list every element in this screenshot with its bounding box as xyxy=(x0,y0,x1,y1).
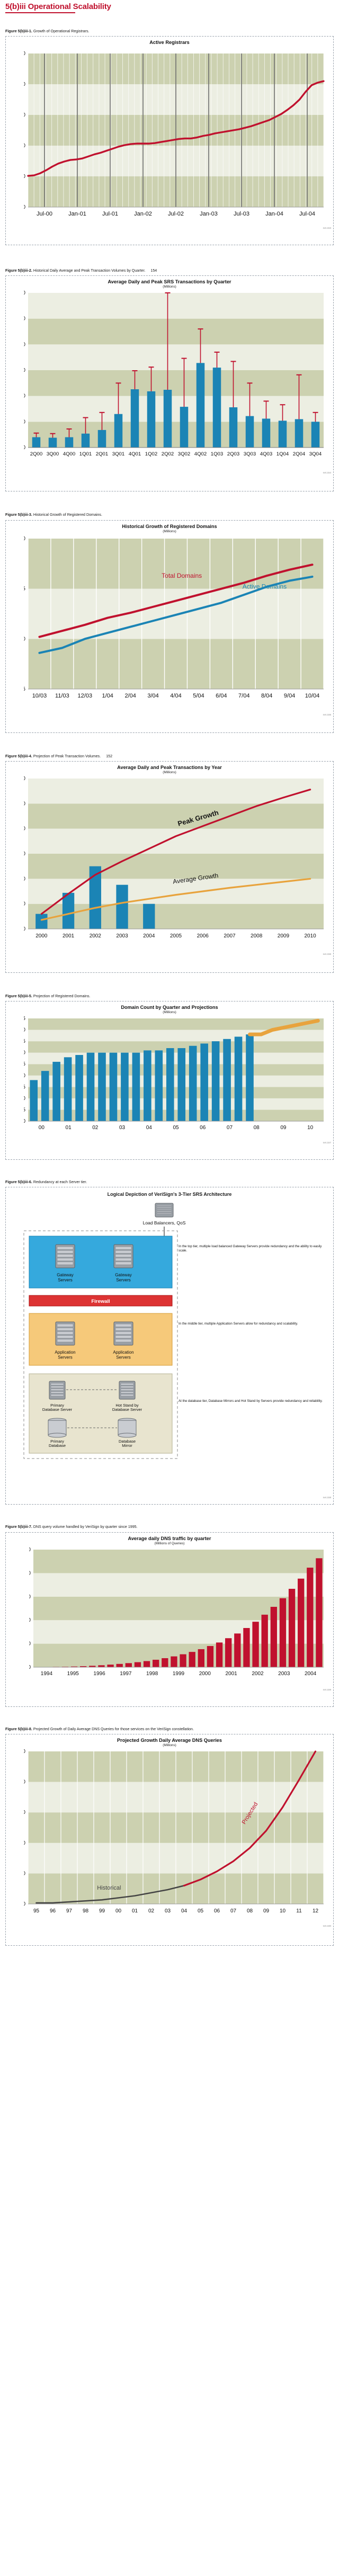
svg-text:04: 04 xyxy=(146,1125,153,1131)
svg-text:1Q01: 1Q01 xyxy=(79,451,92,457)
svg-text:40: 40 xyxy=(24,536,25,542)
svg-text:1Q04: 1Q04 xyxy=(276,451,289,457)
svg-text:2001: 2001 xyxy=(63,933,75,939)
figure-label-7: Figure 5(b)iii-7. xyxy=(5,1525,32,1529)
figure-footer-1: net.153 xyxy=(6,226,333,230)
chart-plot-7: 03,0006,0009,00012,00015,000199419951996… xyxy=(29,1548,326,1688)
figure-caption-text-1: Growth of Operational Registrars. xyxy=(33,29,90,33)
figure-caption-text-2: Historical Daily Average and Peak Transa… xyxy=(33,269,146,273)
figure-caption-5: Figure 5(b)iii-5. Projection of Register… xyxy=(5,994,335,999)
svg-text:1995: 1995 xyxy=(67,1671,79,1677)
svg-text:09: 09 xyxy=(263,1908,270,1914)
figure-caption-8: Figure 5(b)iii-8. Projected Growth of Da… xyxy=(5,1727,335,1732)
bar-chart-srs-transactions: 0501001502002503002Q003Q004Q001Q012Q013Q… xyxy=(24,291,329,471)
page-title: 5(b)iii Operational Scalability xyxy=(5,2,335,11)
document-page: 5(b)iii Operational Scalability Figure 5… xyxy=(0,2,339,1946)
svg-text:30: 30 xyxy=(24,1050,25,1056)
figure-label-2: Figure 5(b)iii-2. xyxy=(5,269,32,273)
svg-text:3Q04: 3Q04 xyxy=(309,451,322,457)
svg-text:2Q00: 2Q00 xyxy=(30,451,42,457)
svg-text:Jul-00: Jul-00 xyxy=(37,211,52,217)
svg-text:95: 95 xyxy=(33,1908,40,1914)
svg-text:300: 300 xyxy=(24,291,25,296)
svg-text:10: 10 xyxy=(280,1908,286,1914)
svg-text:Application: Application xyxy=(55,1350,75,1355)
svg-text:2004: 2004 xyxy=(143,933,155,939)
svg-text:2001: 2001 xyxy=(226,1671,238,1677)
svg-text:4/04: 4/04 xyxy=(170,693,181,699)
chart-plot-3: 25303540Total DomainsActive Domains10/03… xyxy=(24,535,326,713)
svg-text:100: 100 xyxy=(24,393,25,399)
svg-text:Application: Application xyxy=(113,1350,133,1355)
figure-caption-text-8: Projected Growth of Daily Average DNS Qu… xyxy=(33,1727,194,1731)
svg-text:10: 10 xyxy=(24,1096,25,1102)
chart-title-1: Active Registrars xyxy=(6,40,333,45)
svg-text:12/03: 12/03 xyxy=(78,693,93,699)
figure-caption-2: Figure 5(b)iii-2. Historical Daily Avera… xyxy=(5,269,335,273)
figure-caption-text-3: Historical Growth of Registered Domains. xyxy=(33,513,102,517)
svg-text:7/04: 7/04 xyxy=(238,693,249,699)
svg-text:02: 02 xyxy=(148,1908,155,1914)
svg-text:09: 09 xyxy=(280,1125,287,1131)
svg-text:200: 200 xyxy=(24,826,25,832)
svg-text:2010: 2010 xyxy=(305,933,317,939)
svg-text:9/04: 9/04 xyxy=(284,693,295,699)
svg-text:1/04: 1/04 xyxy=(102,693,113,699)
svg-text:05: 05 xyxy=(173,1125,179,1131)
figure-caption-3: Figure 5(b)iii-3. Historical Growth of R… xyxy=(5,513,335,517)
svg-text:2/04: 2/04 xyxy=(124,693,136,699)
svg-text:150: 150 xyxy=(24,368,25,373)
svg-text:08: 08 xyxy=(254,1125,260,1131)
svg-text:3Q02: 3Q02 xyxy=(178,451,190,457)
svg-text:120: 120 xyxy=(24,1779,25,1785)
svg-text:12: 12 xyxy=(313,1908,319,1914)
svg-text:6,000: 6,000 xyxy=(29,1617,31,1623)
svg-text:01: 01 xyxy=(132,1908,138,1914)
chart-title-7: Average daily DNS traffic by quarter xyxy=(6,1536,333,1541)
svg-text:2005: 2005 xyxy=(170,933,182,939)
svg-text:15: 15 xyxy=(24,1084,25,1090)
svg-text:Database Server: Database Server xyxy=(42,1407,73,1412)
svg-text:08: 08 xyxy=(247,1908,253,1914)
svg-text:30: 30 xyxy=(24,1871,25,1876)
line-chart-dns-projection: 0306090120150ProjectedHistorical95969798… xyxy=(24,1749,329,1924)
svg-text:10: 10 xyxy=(307,1125,314,1131)
line-chart-active-registrars: 060120180240300Jul-00Jan-01Jul-01Jan-02J… xyxy=(24,51,329,226)
svg-text:2002: 2002 xyxy=(90,933,102,939)
architecture-diagram: Load Balancers, QoSGatewayServersGateway… xyxy=(8,1199,333,1496)
svg-text:1999: 1999 xyxy=(173,1671,185,1677)
chart-title-8: Projected Growth Daily Average DNS Queri… xyxy=(6,1738,333,1743)
figure-box-6: Logical Depiction of VeriSign's 3-Tier S… xyxy=(5,1187,334,1505)
svg-text:2Q01: 2Q01 xyxy=(96,451,108,457)
svg-text:35: 35 xyxy=(24,586,25,592)
svg-text:Historical: Historical xyxy=(97,1885,121,1891)
svg-text:250: 250 xyxy=(24,801,25,807)
svg-text:0: 0 xyxy=(24,1119,25,1124)
bar-chart-domain-projection: 0510152025303540450001020304050607080910 xyxy=(24,1016,329,1141)
svg-text:98: 98 xyxy=(83,1908,89,1914)
figure-footer-3: net.155 xyxy=(6,713,333,717)
svg-text:35: 35 xyxy=(24,1039,25,1044)
svg-text:Jan-04: Jan-04 xyxy=(265,211,283,217)
svg-text:03: 03 xyxy=(165,1908,171,1914)
figure-box-7: Average daily DNS traffic by quarter (Mi… xyxy=(5,1532,334,1707)
figure-box-4: Average Daily and Peak Transactions by Y… xyxy=(5,761,334,973)
figure-caption-4: Figure 5(b)iii-4. Projection of Peak Tra… xyxy=(5,754,335,759)
svg-text:300: 300 xyxy=(24,51,25,57)
svg-text:60: 60 xyxy=(24,174,25,180)
svg-text:Jan-02: Jan-02 xyxy=(134,211,152,217)
svg-text:Servers: Servers xyxy=(58,1355,73,1360)
figure-caption-text-5: Projection of Registered Domains. xyxy=(33,994,91,998)
line-chart-peak-projection: 050100150200250300Peak GrowthAverage Gro… xyxy=(24,776,329,952)
figure-footer-4: net.156 xyxy=(6,952,333,956)
chart-title-3: Historical Growth of Registered Domains xyxy=(6,524,333,529)
figure-caption-1: Figure 5(b)iii-1. Growth of Operational … xyxy=(5,29,335,34)
svg-text:25: 25 xyxy=(24,686,25,692)
line-chart-registered-domains: 25303540Total DomainsActive Domains10/03… xyxy=(24,535,329,713)
chart-plot-4: 050100150200250300Peak GrowthAverage Gro… xyxy=(24,776,326,952)
figure-caption-text-7: DNS query volume handled by VeriSign by … xyxy=(33,1525,138,1529)
svg-text:2Q03: 2Q03 xyxy=(227,451,239,457)
svg-text:0: 0 xyxy=(24,204,25,210)
figure-page-4: 152 xyxy=(106,754,112,758)
svg-text:Database: Database xyxy=(49,1443,66,1448)
svg-text:5/04: 5/04 xyxy=(193,693,204,699)
chart-subtitle-8: (Millions) xyxy=(6,1743,333,1747)
bar-chart-dns-traffic: 03,0006,0009,00012,00015,000199419951996… xyxy=(29,1548,329,1688)
svg-text:97: 97 xyxy=(66,1908,73,1914)
svg-text:04: 04 xyxy=(181,1908,188,1914)
svg-text:2009: 2009 xyxy=(278,933,290,939)
svg-text:4Q03: 4Q03 xyxy=(260,451,272,457)
figure-box-8: Projected Growth Daily Average DNS Queri… xyxy=(5,1734,334,1946)
svg-text:Servers: Servers xyxy=(116,1355,131,1360)
svg-text:Jul-01: Jul-01 xyxy=(102,211,118,217)
figure-caption-text-4: Projection of Peak Transaction Volumes. xyxy=(33,754,101,758)
svg-text:02: 02 xyxy=(92,1125,99,1131)
svg-text:Jan-01: Jan-01 xyxy=(68,211,86,217)
svg-text:6/04: 6/04 xyxy=(216,693,227,699)
svg-text:03: 03 xyxy=(119,1125,126,1131)
svg-text:0: 0 xyxy=(24,1901,25,1907)
svg-text:40: 40 xyxy=(24,1027,25,1033)
chart-title-2: Average Daily and Peak SRS Transactions … xyxy=(6,279,333,284)
svg-text:11/03: 11/03 xyxy=(55,693,69,699)
chart-plot-5: 0510152025303540450001020304050607080910 xyxy=(24,1016,326,1141)
svg-text:2007: 2007 xyxy=(224,933,236,939)
svg-text:15,000: 15,000 xyxy=(29,1548,31,1553)
svg-text:3Q01: 3Q01 xyxy=(112,451,124,457)
svg-text:50: 50 xyxy=(24,901,25,907)
svg-text:200: 200 xyxy=(24,342,25,348)
svg-text:20: 20 xyxy=(24,1073,25,1079)
svg-text:250: 250 xyxy=(24,316,25,322)
svg-text:2000: 2000 xyxy=(199,1671,211,1677)
svg-text:50: 50 xyxy=(24,419,25,425)
svg-text:Total Domains: Total Domains xyxy=(162,571,202,579)
figure-box-1: Active Registrars 060120180240300Jul-00J… xyxy=(5,36,334,245)
svg-text:180: 180 xyxy=(24,112,25,118)
svg-text:2Q02: 2Q02 xyxy=(162,451,174,457)
svg-text:Jan-03: Jan-03 xyxy=(200,211,218,217)
svg-text:00: 00 xyxy=(39,1125,45,1131)
svg-text:2Q04: 2Q04 xyxy=(293,451,306,457)
svg-text:1Q03: 1Q03 xyxy=(211,451,223,457)
svg-text:Jul-02: Jul-02 xyxy=(168,211,184,217)
chart-subtitle-7: (Millions of Queries) xyxy=(6,1542,333,1545)
figure-label-3: Figure 5(b)iii-3. xyxy=(5,513,32,517)
svg-text:99: 99 xyxy=(99,1908,105,1914)
figure-box-3: Historical Growth of Registered Domains … xyxy=(5,520,334,733)
figure-footer-8: net.160 xyxy=(6,1924,333,1928)
svg-text:07: 07 xyxy=(230,1908,237,1914)
figure-footer-2: net.154 xyxy=(6,471,333,475)
svg-text:0: 0 xyxy=(29,1665,31,1670)
svg-text:1Q02: 1Q02 xyxy=(145,451,157,457)
figure-box-5: Domain Count by Quarter and Projections … xyxy=(5,1001,334,1160)
svg-text:01: 01 xyxy=(66,1125,72,1131)
chart-title-5: Domain Count by Quarter and Projections xyxy=(6,1005,333,1010)
svg-text:3Q03: 3Q03 xyxy=(244,451,256,457)
svg-text:Firewall: Firewall xyxy=(91,1299,110,1304)
svg-text:10/03: 10/03 xyxy=(32,693,47,699)
svg-text:240: 240 xyxy=(24,82,25,87)
svg-text:120: 120 xyxy=(24,143,25,149)
svg-text:Mirror: Mirror xyxy=(122,1443,132,1448)
chart-plot-2: 0501001502002503002Q003Q004Q001Q012Q013Q… xyxy=(24,291,326,471)
svg-text:3/04: 3/04 xyxy=(147,693,158,699)
svg-text:2008: 2008 xyxy=(251,933,263,939)
chart-plot-8: 0306090120150ProjectedHistorical95969798… xyxy=(24,1749,326,1924)
svg-text:Active Domains: Active Domains xyxy=(243,583,287,590)
svg-text:11: 11 xyxy=(296,1908,302,1914)
figure-footer-6: net.158 xyxy=(6,1496,333,1500)
chart-subtitle-4: (Millions) xyxy=(6,771,333,774)
svg-text:2006: 2006 xyxy=(197,933,209,939)
figure-caption-6: Figure 5(b)iii-6. Redundancy at each Ser… xyxy=(5,1180,335,1185)
svg-text:Gateway: Gateway xyxy=(115,1273,132,1277)
svg-text:0: 0 xyxy=(24,926,25,932)
svg-text:45: 45 xyxy=(24,1016,25,1022)
figure-label-1: Figure 5(b)iii-1. xyxy=(5,29,32,33)
svg-text:5: 5 xyxy=(24,1107,25,1113)
svg-text:06: 06 xyxy=(214,1908,220,1914)
svg-text:Jul-04: Jul-04 xyxy=(299,211,315,217)
svg-text:Servers: Servers xyxy=(116,1278,131,1283)
figure-label-6: Figure 5(b)iii-6. xyxy=(5,1180,32,1184)
figure-footer-5: net.157 xyxy=(6,1141,333,1145)
figure-page-2: 154 xyxy=(150,269,157,273)
svg-text:4Q00: 4Q00 xyxy=(63,451,75,457)
svg-text:10/04: 10/04 xyxy=(305,693,320,699)
svg-text:2002: 2002 xyxy=(252,1671,264,1677)
chart-subtitle-3: (Millions) xyxy=(6,530,333,533)
svg-text:3Q00: 3Q00 xyxy=(47,451,59,457)
svg-text:60: 60 xyxy=(24,1840,25,1846)
diagram-title: Logical Depiction of VeriSign's 3-Tier S… xyxy=(6,1192,333,1197)
svg-text:1997: 1997 xyxy=(120,1671,132,1677)
svg-text:00: 00 xyxy=(115,1908,122,1914)
svg-text:2003: 2003 xyxy=(116,933,128,939)
svg-text:30: 30 xyxy=(24,636,25,642)
figure-label-8: Figure 5(b)iii-8. xyxy=(5,1727,32,1731)
svg-text:1996: 1996 xyxy=(93,1671,105,1677)
figure-label-4: Figure 5(b)iii-4. xyxy=(5,754,32,758)
svg-text:3,000: 3,000 xyxy=(29,1641,31,1647)
svg-text:4Q01: 4Q01 xyxy=(129,451,141,457)
svg-text:8/04: 8/04 xyxy=(261,693,272,699)
figure-box-2: Average Daily and Peak SRS Transactions … xyxy=(5,275,334,491)
svg-text:Database Server: Database Server xyxy=(112,1407,142,1412)
svg-text:2000: 2000 xyxy=(35,933,48,939)
chart-title-4: Average Daily and Peak Transactions by Y… xyxy=(6,765,333,770)
svg-text:9,000: 9,000 xyxy=(29,1594,31,1599)
svg-text:150: 150 xyxy=(24,851,25,857)
svg-text:07: 07 xyxy=(227,1125,233,1131)
figure-caption-7: Figure 5(b)iii-7. DNS query volume handl… xyxy=(5,1525,335,1529)
svg-text:0: 0 xyxy=(24,445,25,451)
svg-text:1994: 1994 xyxy=(41,1671,53,1677)
svg-text:12,000: 12,000 xyxy=(29,1570,31,1576)
svg-text:300: 300 xyxy=(24,776,25,782)
chart-subtitle-2: (Millions) xyxy=(6,285,333,289)
figure-label-5: Figure 5(b)iii-5. xyxy=(5,994,32,998)
svg-text:25: 25 xyxy=(24,1061,25,1067)
svg-text:06: 06 xyxy=(200,1125,206,1131)
svg-text:2004: 2004 xyxy=(305,1671,317,1677)
chart-plot-1: 060120180240300Jul-00Jan-01Jul-01Jan-02J… xyxy=(24,51,326,226)
svg-text:90: 90 xyxy=(24,1810,25,1815)
svg-text:Jul-03: Jul-03 xyxy=(234,211,249,217)
figure-caption-text-6: Redundancy at each Server tier. xyxy=(33,1180,87,1184)
svg-text:Gateway: Gateway xyxy=(57,1273,74,1277)
svg-text:05: 05 xyxy=(198,1908,204,1914)
svg-text:Load Balancers, QoS: Load Balancers, QoS xyxy=(143,1220,186,1226)
figure-footer-7: net.159 xyxy=(6,1688,333,1692)
svg-text:2003: 2003 xyxy=(278,1671,290,1677)
svg-text:4Q02: 4Q02 xyxy=(194,451,207,457)
svg-text:150: 150 xyxy=(24,1749,25,1755)
svg-text:Servers: Servers xyxy=(58,1278,73,1283)
svg-text:1998: 1998 xyxy=(146,1671,158,1677)
svg-text:96: 96 xyxy=(50,1908,56,1914)
svg-text:100: 100 xyxy=(24,876,25,882)
chart-subtitle-5: (Millions) xyxy=(6,1010,333,1014)
